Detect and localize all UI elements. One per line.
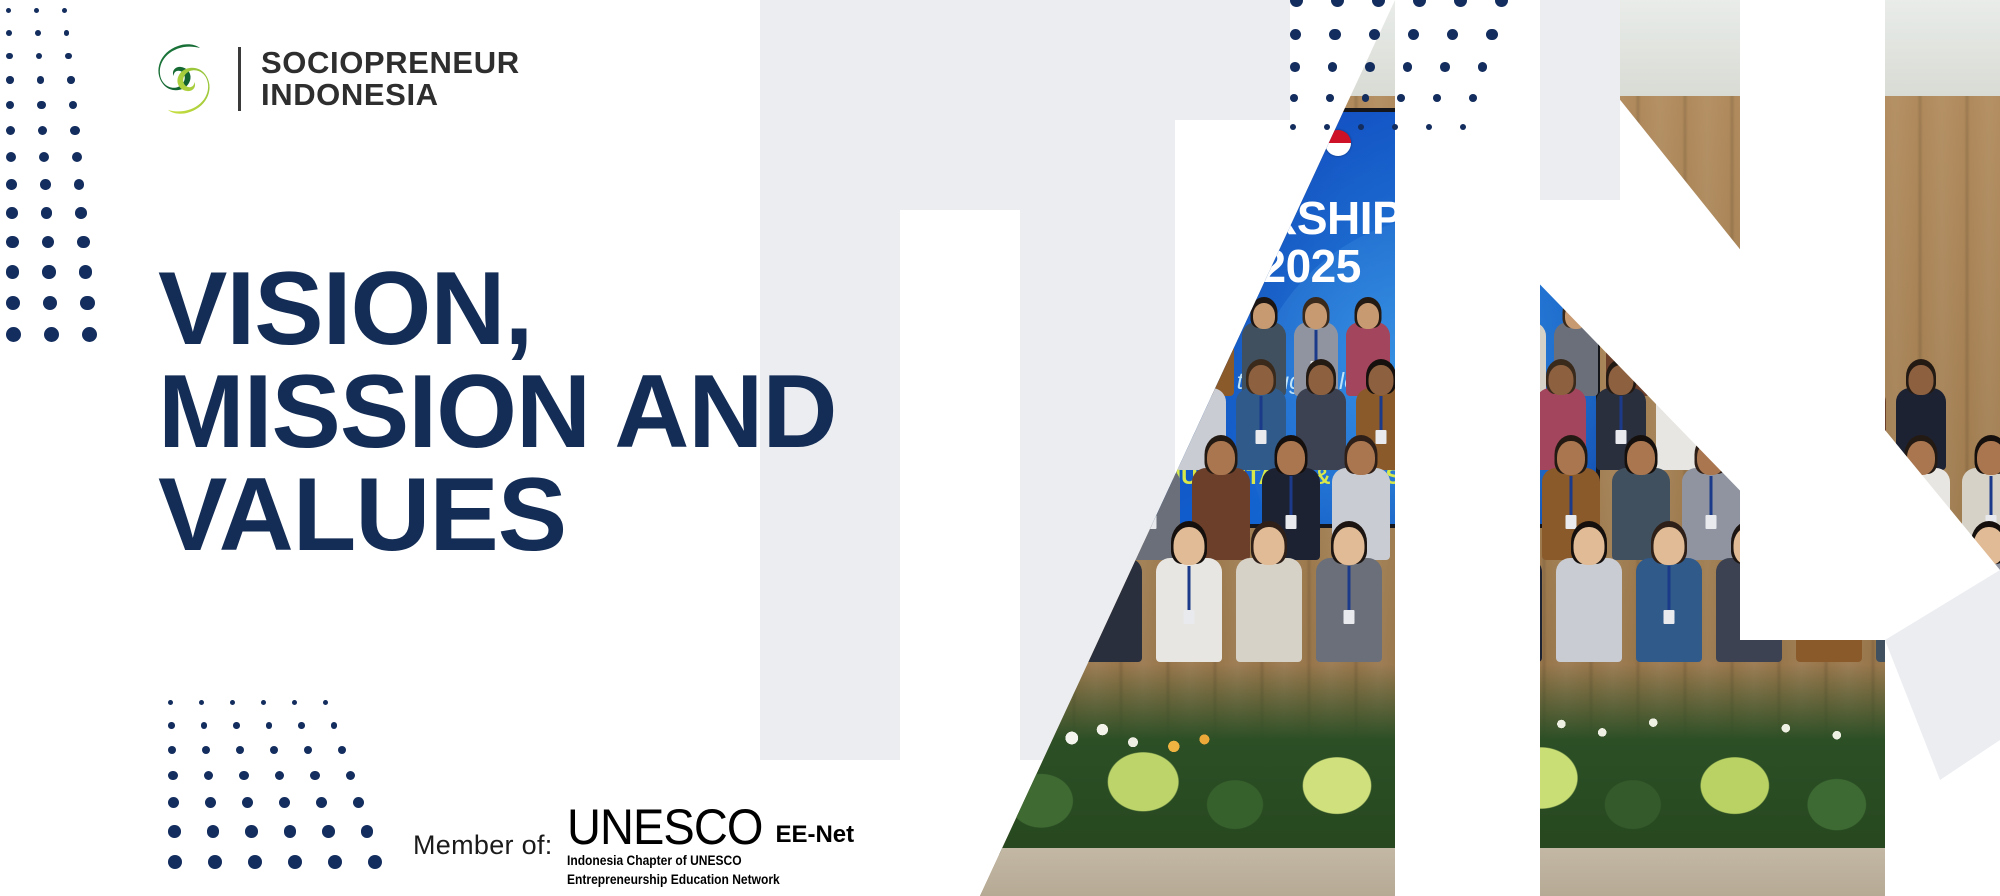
banner-divider-bottom xyxy=(980,412,1076,415)
delegate-lanyard xyxy=(1835,330,1838,361)
delegate-hair xyxy=(1006,359,1036,394)
decorative-dot xyxy=(34,8,39,13)
delegate-badge xyxy=(999,361,1010,375)
membership-block: Member of: UNESCO EE-Net Indonesia Chapt… xyxy=(413,805,854,887)
dot-row xyxy=(6,8,120,13)
dot-row xyxy=(6,265,120,278)
delegate-head xyxy=(1249,365,1274,395)
decorative-dot xyxy=(1486,29,1497,40)
decorative-dot xyxy=(37,101,45,109)
delegate-head xyxy=(1789,365,1814,395)
dot-row xyxy=(6,327,120,342)
dot-row xyxy=(1290,124,1536,130)
delegate-head xyxy=(1549,365,1574,395)
delegate-head xyxy=(1814,527,1845,565)
delegate-body xyxy=(1076,558,1142,662)
banner-title-line1: ENTREPRENEURSHIP xyxy=(980,194,1582,242)
dot-row xyxy=(6,296,120,310)
delegate-head xyxy=(1773,303,1795,329)
banner-title-line2: TION MEETING 2025 xyxy=(980,242,1582,290)
decorative-dot xyxy=(1495,0,1508,7)
delegate-head xyxy=(1907,441,1935,475)
delegate-lanyard xyxy=(1211,330,1214,361)
delegate-hair xyxy=(1095,297,1122,328)
delegate-hair xyxy=(1066,359,1096,394)
delegate-hair xyxy=(1043,297,1070,328)
delegate-lanyard xyxy=(1731,330,1734,361)
delegate-figure xyxy=(1396,524,1462,666)
decorative-dot xyxy=(67,76,75,84)
decorative-dot xyxy=(168,797,179,808)
decorative-dot xyxy=(230,700,235,705)
delegate-head xyxy=(997,441,1025,475)
decorative-dot xyxy=(1331,0,1344,7)
delegate-head xyxy=(1974,527,2000,565)
luxembourg-flag xyxy=(1077,130,1103,156)
decorative-dot xyxy=(1433,94,1441,102)
delegate-hair xyxy=(1091,521,1127,564)
decorative-dot xyxy=(1454,0,1467,7)
delegate-hair xyxy=(1135,435,1168,474)
decorative-dot xyxy=(331,722,338,729)
decorative-dot xyxy=(310,771,320,781)
delegate-head xyxy=(1129,365,1154,395)
decorative-dot xyxy=(1329,29,1340,40)
delegate-badge xyxy=(1024,610,1035,624)
decorative-dot xyxy=(245,825,258,838)
unesco-logo-top: UNESCO EE-Net xyxy=(567,805,855,850)
decorative-dot xyxy=(1469,94,1477,102)
decorative-dot xyxy=(74,179,85,190)
decorative-dot xyxy=(1369,29,1380,40)
dot-row xyxy=(6,101,120,109)
dot-row xyxy=(6,152,120,162)
delegate-lanyard xyxy=(1828,566,1831,610)
delegate-lanyard xyxy=(1140,396,1143,430)
uzbekistan-flag xyxy=(1201,130,1227,156)
brand-logo-lockup[interactable]: SOCIOPRENEUR INDONESIA xyxy=(148,40,520,118)
dot-row xyxy=(1290,94,1536,102)
decorative-dot xyxy=(323,700,328,705)
decorative-dot xyxy=(288,855,302,869)
decorative-dot xyxy=(168,825,181,838)
decorative-dot xyxy=(1408,29,1419,40)
decorative-dot xyxy=(6,327,21,342)
delegate-body xyxy=(1138,322,1182,396)
dot-row xyxy=(168,855,408,869)
decorative-dot xyxy=(1324,124,1330,130)
delegate-figure xyxy=(1956,524,2000,666)
decorative-dot xyxy=(1362,94,1370,102)
decorative-dot xyxy=(304,746,312,754)
decorative-dot xyxy=(44,327,59,342)
delegate-head xyxy=(1097,303,1119,329)
delegate-head xyxy=(1067,441,1095,475)
nigeria-flag xyxy=(1263,130,1289,156)
decorative-dot xyxy=(62,8,67,13)
delegate-badge xyxy=(1504,610,1515,624)
delegate-body xyxy=(996,558,1062,662)
delegate-head xyxy=(1617,303,1639,329)
delegate-lanyard xyxy=(1380,396,1383,430)
delegate-hair xyxy=(1199,297,1226,328)
decorative-dot xyxy=(202,746,210,754)
delegate-lanyard xyxy=(1570,476,1573,515)
decorative-dot xyxy=(1290,94,1298,102)
decorative-dot xyxy=(6,126,15,135)
delegate-head xyxy=(1414,527,1445,565)
decorative-dot xyxy=(6,179,17,190)
delegate-head xyxy=(1729,365,1754,395)
decorative-dot xyxy=(77,236,90,249)
dot-row xyxy=(168,722,408,729)
page-title-line2: MISSION AND xyxy=(158,361,837,464)
decorative-dot xyxy=(168,771,178,781)
delegate-body xyxy=(1556,558,1622,662)
decorative-dot xyxy=(1365,62,1375,72)
delegate-figure xyxy=(1716,524,1782,666)
delegate-lanyard xyxy=(1003,330,1006,361)
decorative-dot xyxy=(1460,124,1466,130)
dot-row xyxy=(1290,0,1536,7)
delegate-figure xyxy=(982,300,1026,400)
delegate-figure xyxy=(1636,524,1702,666)
delegate-lanyard xyxy=(1860,396,1863,430)
delegate-hair xyxy=(1126,359,1156,394)
decorative-dot xyxy=(275,771,285,781)
member-of-label: Member of: xyxy=(413,830,553,861)
delegate-badge xyxy=(1103,361,1114,375)
delegate-badge xyxy=(1006,515,1017,529)
delegate-figure xyxy=(1076,524,1142,666)
dot-row xyxy=(168,797,408,808)
banner-date: OCTOBER 2025 xyxy=(980,432,1133,461)
delegate-lanyard xyxy=(1740,396,1743,430)
decorative-dot xyxy=(261,700,266,705)
decorative-dot xyxy=(42,236,55,249)
delegate-head xyxy=(1837,441,1865,475)
page-title: VISION, MISSION AND VALUES xyxy=(158,258,837,567)
dot-row xyxy=(168,700,408,705)
delegate-head xyxy=(1513,303,1535,329)
banner-divider-top xyxy=(980,319,1076,322)
decorative-dot xyxy=(82,327,97,342)
delegate-body xyxy=(982,322,1026,396)
decorative-dot xyxy=(233,722,240,729)
decorative-dot xyxy=(6,152,16,162)
decorative-dot xyxy=(1397,94,1405,102)
delegate-lanyard xyxy=(1188,566,1191,610)
dot-row xyxy=(6,53,120,60)
delegate-head xyxy=(1565,303,1587,329)
decorative-dot xyxy=(208,855,222,869)
page-title-line1: VISION, xyxy=(158,258,837,361)
germany-flag xyxy=(1108,130,1134,156)
delegate-lanyard xyxy=(1627,330,1630,361)
wireframe-globe-graphic xyxy=(1022,140,1192,440)
delegate-head xyxy=(1767,441,1795,475)
decorative-dot xyxy=(346,771,356,781)
decorative-dot xyxy=(168,746,176,754)
delegate-head xyxy=(1189,365,1214,395)
dot-row xyxy=(168,825,408,838)
decorative-dot xyxy=(316,797,327,808)
delegate-head xyxy=(1669,365,1694,395)
delegate-head xyxy=(1977,441,2000,475)
delegate-figure xyxy=(996,524,1062,666)
delegate-head xyxy=(1409,303,1431,329)
delegate-badge xyxy=(1344,610,1355,624)
delegate-lanyard xyxy=(1990,476,1993,515)
dot-row xyxy=(6,236,120,249)
decorative-dot xyxy=(239,771,249,781)
delegate-figure xyxy=(996,362,1046,474)
dot-row xyxy=(168,771,408,781)
decorative-dot xyxy=(36,53,43,60)
delegate-lanyard xyxy=(1620,396,1623,430)
delegate-head xyxy=(1305,303,1327,329)
delegate-figure xyxy=(982,438,1040,564)
brand-name-line2: INDONESIA xyxy=(261,79,520,111)
england-flag xyxy=(1232,130,1258,156)
delegate-lanyard xyxy=(1523,330,1526,361)
unesco-subtitle-line2: Entrepreneurship Education Network xyxy=(567,871,814,888)
decorative-dot xyxy=(6,296,20,310)
delegate-lanyard xyxy=(1107,330,1110,361)
delegate-head xyxy=(1894,527,1925,565)
dot-row xyxy=(1290,29,1536,40)
decorative-dot xyxy=(6,30,12,36)
decorative-dot xyxy=(6,53,13,60)
decorative-dot xyxy=(242,797,253,808)
delegate-lanyard xyxy=(1150,476,1153,515)
decorative-dot xyxy=(6,207,18,219)
delegate-lanyard xyxy=(1850,476,1853,515)
delegate-head xyxy=(1253,303,1275,329)
decorative-dot xyxy=(168,700,173,705)
decorative-dot xyxy=(1290,124,1296,130)
decorative-dot xyxy=(1426,124,1432,130)
page-title-line3: VALUES xyxy=(158,464,837,567)
delegate-head xyxy=(1207,441,1235,475)
decorative-dot xyxy=(1447,29,1458,40)
delegate-lanyard xyxy=(1028,566,1031,610)
australia-flag xyxy=(1015,130,1041,156)
flower-decor xyxy=(980,696,2000,766)
delegate-head xyxy=(1014,527,1045,565)
delegate-figure xyxy=(1056,362,1106,474)
pakistan-flag xyxy=(984,130,1010,156)
slide-canvas: ENTREPRENEURSHIP TION MEETING 2025 ed by… xyxy=(0,0,2000,896)
decorative-dot xyxy=(1372,0,1385,7)
delegate-head xyxy=(1487,441,1515,475)
dot-row xyxy=(1290,62,1536,72)
decorative-dot xyxy=(292,700,297,705)
decorative-dot xyxy=(42,265,55,278)
delegate-head xyxy=(1357,303,1379,329)
dot-row xyxy=(6,207,120,219)
delegate-head xyxy=(1069,365,1094,395)
japan-flag xyxy=(1139,130,1165,156)
decorative-dot xyxy=(279,797,290,808)
decorative-dot xyxy=(65,53,72,60)
decorative-dot xyxy=(79,265,92,278)
delegate-badge xyxy=(1824,610,1835,624)
sociopreneur-swirl-logo-icon xyxy=(148,40,220,118)
delegate-head xyxy=(1201,303,1223,329)
delegate-body xyxy=(1876,558,1942,662)
decorative-dot xyxy=(1290,0,1303,7)
dot-grid-bottom-left xyxy=(168,700,408,886)
delegate-body xyxy=(982,468,1040,560)
decorative-dot xyxy=(298,722,305,729)
decorative-dot xyxy=(1403,62,1413,72)
delegate-body xyxy=(1116,388,1166,470)
decorative-dot xyxy=(368,855,382,869)
dot-row xyxy=(6,126,120,135)
decorative-dot xyxy=(69,101,77,109)
delegate-hair xyxy=(1147,297,1174,328)
delegate-body xyxy=(1396,558,1462,662)
decorative-dot xyxy=(1290,62,1300,72)
delegate-body xyxy=(1052,468,1110,560)
delegate-badge xyxy=(1664,610,1675,624)
delegate-lanyard xyxy=(1315,330,1318,361)
decorative-dot xyxy=(199,700,204,705)
decorative-dot xyxy=(41,207,53,219)
decorative-dot xyxy=(70,126,79,135)
delegate-body xyxy=(1086,322,1130,396)
decorative-dot xyxy=(35,30,41,36)
decorative-dot xyxy=(6,236,19,249)
brand-name-line1: SOCIOPRENEUR xyxy=(261,47,520,79)
delegate-body xyxy=(996,388,1046,470)
delegate-head xyxy=(1094,527,1125,565)
delegate-head xyxy=(1849,365,1874,395)
delegate-figure xyxy=(1876,524,1942,666)
decorative-dot xyxy=(43,296,57,310)
delegate-figure xyxy=(1138,300,1182,400)
delegate-head xyxy=(1334,527,1365,565)
south-korea-flag xyxy=(1170,130,1196,156)
delegate-figure xyxy=(1556,524,1622,666)
delegate-head xyxy=(1254,527,1285,565)
decorative-dot xyxy=(1413,0,1426,7)
delegate-hair xyxy=(995,435,1028,474)
delegate-lanyard xyxy=(1290,476,1293,515)
delegate-figure xyxy=(1156,524,1222,666)
decorative-dot xyxy=(6,8,11,13)
dot-row xyxy=(6,179,120,190)
decorative-dot xyxy=(248,855,262,869)
dot-row xyxy=(168,746,408,754)
finland-flag xyxy=(1046,130,1072,156)
delegate-badge xyxy=(1136,430,1147,444)
delegate-head xyxy=(1461,303,1483,329)
delegate-figure xyxy=(1316,524,1382,666)
decorative-dot xyxy=(37,76,45,84)
delegate-body xyxy=(1716,558,1782,662)
delegate-hair xyxy=(1186,359,1216,394)
delegate-figure xyxy=(1796,524,1862,666)
decorative-dot xyxy=(80,296,94,310)
decorative-dot xyxy=(1440,62,1450,72)
delegate-figure xyxy=(1236,524,1302,666)
decorative-dot xyxy=(338,746,346,754)
delegate-head xyxy=(1347,441,1375,475)
decorative-dot xyxy=(1328,62,1338,72)
decorative-dot xyxy=(204,771,214,781)
delegate-figure xyxy=(1034,300,1078,400)
decorative-dot xyxy=(1358,124,1364,130)
decorative-dot xyxy=(6,265,19,278)
delegate-badge xyxy=(1016,430,1027,444)
delegate-head xyxy=(1721,303,1743,329)
delegate-lanyard xyxy=(1988,566,1991,610)
decorative-dot xyxy=(168,722,175,729)
delegate-head xyxy=(1557,441,1585,475)
delegate-lanyard xyxy=(1500,396,1503,430)
dot-grid-top-right xyxy=(1290,0,1536,152)
delegate-hair xyxy=(1011,521,1047,564)
delegate-hair xyxy=(1065,435,1098,474)
delegate-head xyxy=(1309,365,1334,395)
delegate-figure xyxy=(1086,300,1130,400)
delegate-head xyxy=(1627,441,1655,475)
delegate-head xyxy=(1369,365,1394,395)
delegate-lanyard xyxy=(1020,396,1023,430)
decorative-dot xyxy=(39,152,49,162)
delegate-lanyard xyxy=(1508,566,1511,610)
delegate-figure xyxy=(1476,524,1542,666)
delegate-head xyxy=(1137,441,1165,475)
delegate-head xyxy=(1574,527,1605,565)
delegate-lanyard xyxy=(1430,476,1433,515)
decorative-dot xyxy=(40,179,51,190)
delegate-lanyard xyxy=(1419,330,1422,361)
delegate-head xyxy=(1609,365,1634,395)
delegate-head xyxy=(1825,303,1847,329)
decorative-dot xyxy=(64,30,70,36)
decorative-dot xyxy=(236,746,244,754)
delegate-lanyard xyxy=(1348,566,1351,610)
dot-row xyxy=(6,30,120,36)
delegate-lanyard xyxy=(1010,476,1013,515)
logo-divider xyxy=(238,47,241,111)
decorative-dot xyxy=(72,152,82,162)
delegate-row xyxy=(980,524,2000,666)
decorative-dot xyxy=(270,746,278,754)
decorative-dot xyxy=(75,207,87,219)
delegate-head xyxy=(1489,365,1514,395)
delegate-badge xyxy=(1207,361,1218,375)
decorative-dot xyxy=(205,797,216,808)
decorative-dot xyxy=(284,825,297,838)
brand-wordmark: SOCIOPRENEUR INDONESIA xyxy=(261,47,520,110)
delegate-head xyxy=(993,303,1015,329)
delegate-figure xyxy=(1052,438,1110,564)
delegate-head xyxy=(1045,303,1067,329)
decorative-dot xyxy=(353,797,364,808)
delegate-lanyard xyxy=(1260,396,1263,430)
decorative-dot xyxy=(168,855,182,869)
stage-floor xyxy=(980,848,2000,896)
dot-row xyxy=(6,76,120,84)
decorative-dot xyxy=(6,101,14,109)
delegate-head xyxy=(1174,527,1205,565)
decorative-dot xyxy=(6,76,14,84)
delegate-head xyxy=(1734,527,1765,565)
